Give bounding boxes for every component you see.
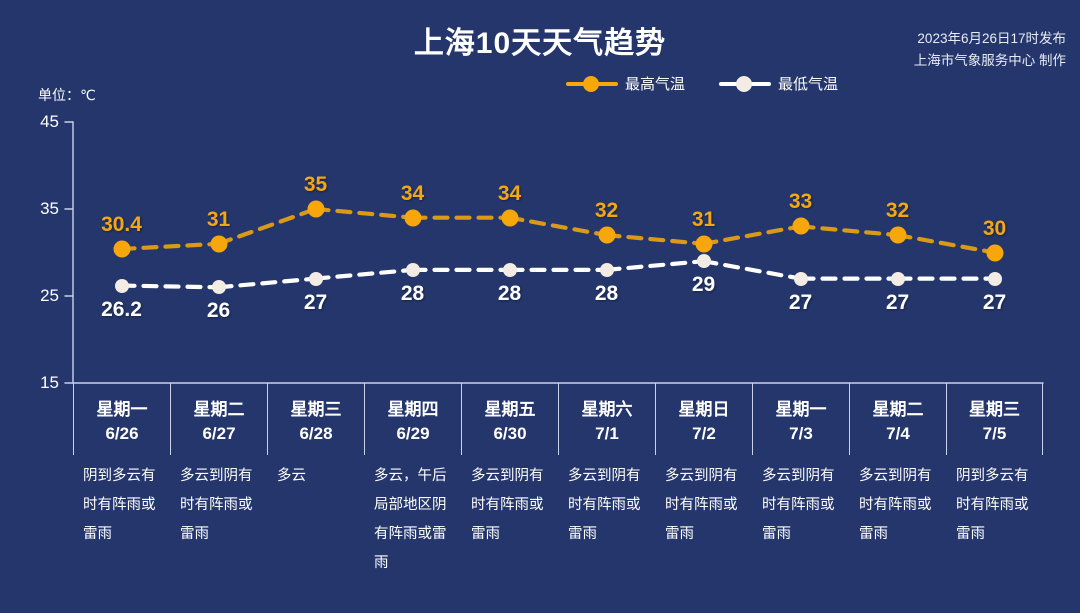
data-point-low (697, 254, 711, 268)
data-point-high (599, 228, 614, 243)
weekday-label: 星期五 (485, 395, 536, 420)
legend-label-high: 最高气温 (625, 73, 685, 94)
data-label-high: 32 (595, 199, 618, 223)
data-point-high (987, 245, 1002, 260)
weather-description: 多云到阴有时有阵雨或雷雨 (180, 462, 261, 549)
weather-description: 多云到阴有时有阵雨或雷雨 (471, 462, 552, 549)
weather-description: 多云 (277, 462, 358, 491)
date-label: 7/5 (983, 424, 1007, 444)
producer: 上海市气象服务中心 制作 (914, 50, 1066, 72)
day-header-table: 星期一6/26星期二6/27星期三6/28星期四6/29星期五6/30星期六7/… (73, 383, 1043, 455)
y-axis-tick-label: 15 (19, 373, 59, 393)
data-label-high: 30 (983, 217, 1006, 241)
legend-marker-high-icon (566, 74, 618, 92)
data-point-low (503, 263, 517, 277)
data-label-low: 28 (498, 282, 521, 306)
weekday-label: 星期一 (97, 395, 148, 420)
data-label-high: 34 (498, 182, 521, 206)
day-column-header[interactable]: 星期六7/1 (558, 383, 655, 455)
data-point-low (406, 263, 420, 277)
y-axis-unit-label: 单位：℃ (38, 85, 96, 105)
legend-label-low: 最低气温 (778, 73, 838, 94)
legend-item-low: 最低气温 (719, 73, 838, 94)
weekday-label: 星期二 (194, 395, 245, 420)
day-column-header[interactable]: 星期一7/3 (752, 383, 849, 455)
data-label-low: 27 (983, 291, 1006, 315)
data-label-high: 32 (886, 199, 909, 223)
weekday-label: 星期三 (969, 395, 1020, 420)
day-column-header[interactable]: 星期五6/30 (461, 383, 558, 455)
day-column-header[interactable]: 星期四6/29 (364, 383, 461, 455)
data-point-high (696, 236, 711, 251)
data-point-high (890, 228, 905, 243)
legend-item-high: 最高气温 (566, 73, 685, 94)
weekday-label: 星期六 (582, 395, 633, 420)
data-point-low (600, 263, 614, 277)
data-label-low: 26 (207, 299, 230, 323)
legend-marker-low-icon (719, 74, 771, 92)
date-label: 6/27 (202, 424, 235, 444)
data-point-low (115, 279, 129, 293)
data-label-low: 29 (692, 273, 715, 297)
data-point-high (502, 210, 517, 225)
weekday-label: 星期三 (291, 395, 342, 420)
date-label: 7/3 (789, 424, 813, 444)
weekday-label: 星期四 (388, 395, 439, 420)
date-label: 6/29 (396, 424, 429, 444)
date-label: 7/1 (595, 424, 619, 444)
data-label-high: 33 (789, 190, 812, 214)
data-point-low (309, 272, 323, 286)
day-column-header[interactable]: 星期二7/4 (849, 383, 946, 455)
weekday-label: 星期一 (776, 395, 827, 420)
publish-info: 2023年6月26日17时发布 上海市气象服务中心 制作 (914, 28, 1066, 72)
y-axis-tick-label: 45 (19, 112, 59, 132)
data-point-low (794, 272, 808, 286)
date-label: 6/30 (493, 424, 526, 444)
publish-time: 2023年6月26日17时发布 (914, 28, 1066, 50)
date-label: 6/28 (299, 424, 332, 444)
weather-description: 多云到阴有时有阵雨或雷雨 (859, 462, 940, 549)
data-label-low: 27 (886, 291, 909, 315)
weather-description: 多云到阴有时有阵雨或雷雨 (568, 462, 649, 549)
date-label: 7/2 (692, 424, 716, 444)
weekday-label: 星期二 (873, 395, 924, 420)
data-point-high (793, 219, 808, 234)
data-label-high: 31 (692, 208, 715, 232)
weather-description: 阴到多云有时有阵雨或雷雨 (83, 462, 164, 549)
chart-legend: 最高气温 最低气温 (566, 72, 838, 94)
data-label-low: 28 (401, 282, 424, 306)
data-point-high (405, 210, 420, 225)
y-axis-tick-label: 35 (19, 199, 59, 219)
data-label-high: 35 (304, 173, 327, 197)
data-point-low (212, 280, 226, 294)
data-label-low: 26.2 (101, 298, 142, 322)
data-point-high (114, 242, 129, 257)
data-point-low (988, 272, 1002, 286)
data-label-high: 34 (401, 182, 424, 206)
data-point-high (211, 236, 226, 251)
date-label: 6/26 (105, 424, 138, 444)
data-label-low: 27 (304, 291, 327, 315)
data-point-low (891, 272, 905, 286)
date-label: 7/4 (886, 424, 910, 444)
weather-description: 阴到多云有时有阵雨或雷雨 (956, 462, 1037, 549)
data-label-high: 30.4 (101, 213, 142, 237)
weekday-label: 星期日 (679, 395, 730, 420)
day-column-header[interactable]: 星期三7/5 (946, 383, 1043, 455)
weather-trend-chart-page: 上海10天天气趋势 2023年6月26日17时发布 上海市气象服务中心 制作 最… (0, 0, 1080, 613)
data-label-high: 31 (207, 208, 230, 232)
weather-description: 多云到阴有时有阵雨或雷雨 (762, 462, 843, 549)
weather-description: 多云到阴有时有阵雨或雷雨 (665, 462, 746, 549)
day-column-header[interactable]: 星期日7/2 (655, 383, 752, 455)
data-point-high (308, 202, 323, 217)
day-column-header[interactable]: 星期一6/26 (73, 383, 170, 455)
weather-description: 多云，午后局部地区阴有阵雨或雷雨 (374, 462, 455, 578)
day-column-header[interactable]: 星期二6/27 (170, 383, 267, 455)
y-axis-tick-label: 25 (19, 286, 59, 306)
day-column-header[interactable]: 星期三6/28 (267, 383, 364, 455)
data-label-low: 28 (595, 282, 618, 306)
data-label-low: 27 (789, 291, 812, 315)
